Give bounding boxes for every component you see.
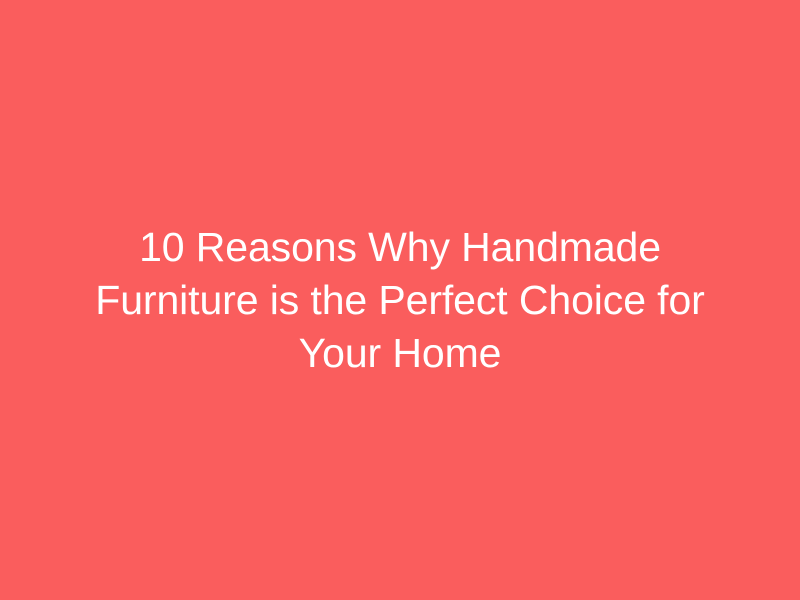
article-hero-card: 10 Reasons Why Handmade Furniture is the… [0,0,800,600]
title-block: 10 Reasons Why Handmade Furniture is the… [0,221,800,380]
page-title: 10 Reasons Why Handmade Furniture is the… [68,221,732,380]
